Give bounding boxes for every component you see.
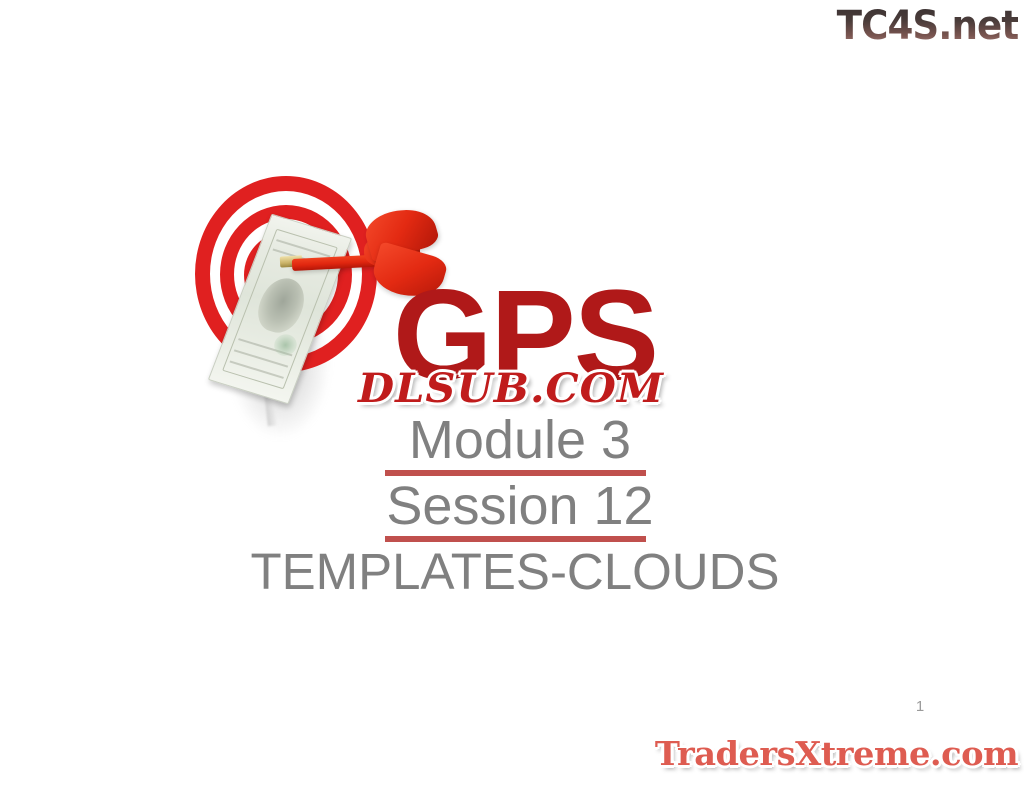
subtitle-module: Module 3	[0, 412, 1024, 469]
tradersxtreme-logo: TradersXtreme.com	[655, 735, 1018, 773]
subtitle-session: Session 12	[0, 478, 1024, 535]
tc4s-logo: TC4S.net	[836, 4, 1018, 48]
dlsub-watermark: DLSUB.COM	[358, 366, 664, 412]
subtitle-topic: TEMPLATES-CLOUDS	[0, 544, 1024, 600]
presentation-slide: TC4S.net GPS DLSUB.COM Module 3 Session	[0, 0, 1024, 791]
subtitle-block: Module 3 Session 12 TEMPLATES-CLOUDS	[0, 412, 1024, 600]
bill-detail-line	[276, 239, 330, 257]
subtitle-divider-2	[385, 536, 646, 542]
page-number: 1	[905, 698, 935, 715]
